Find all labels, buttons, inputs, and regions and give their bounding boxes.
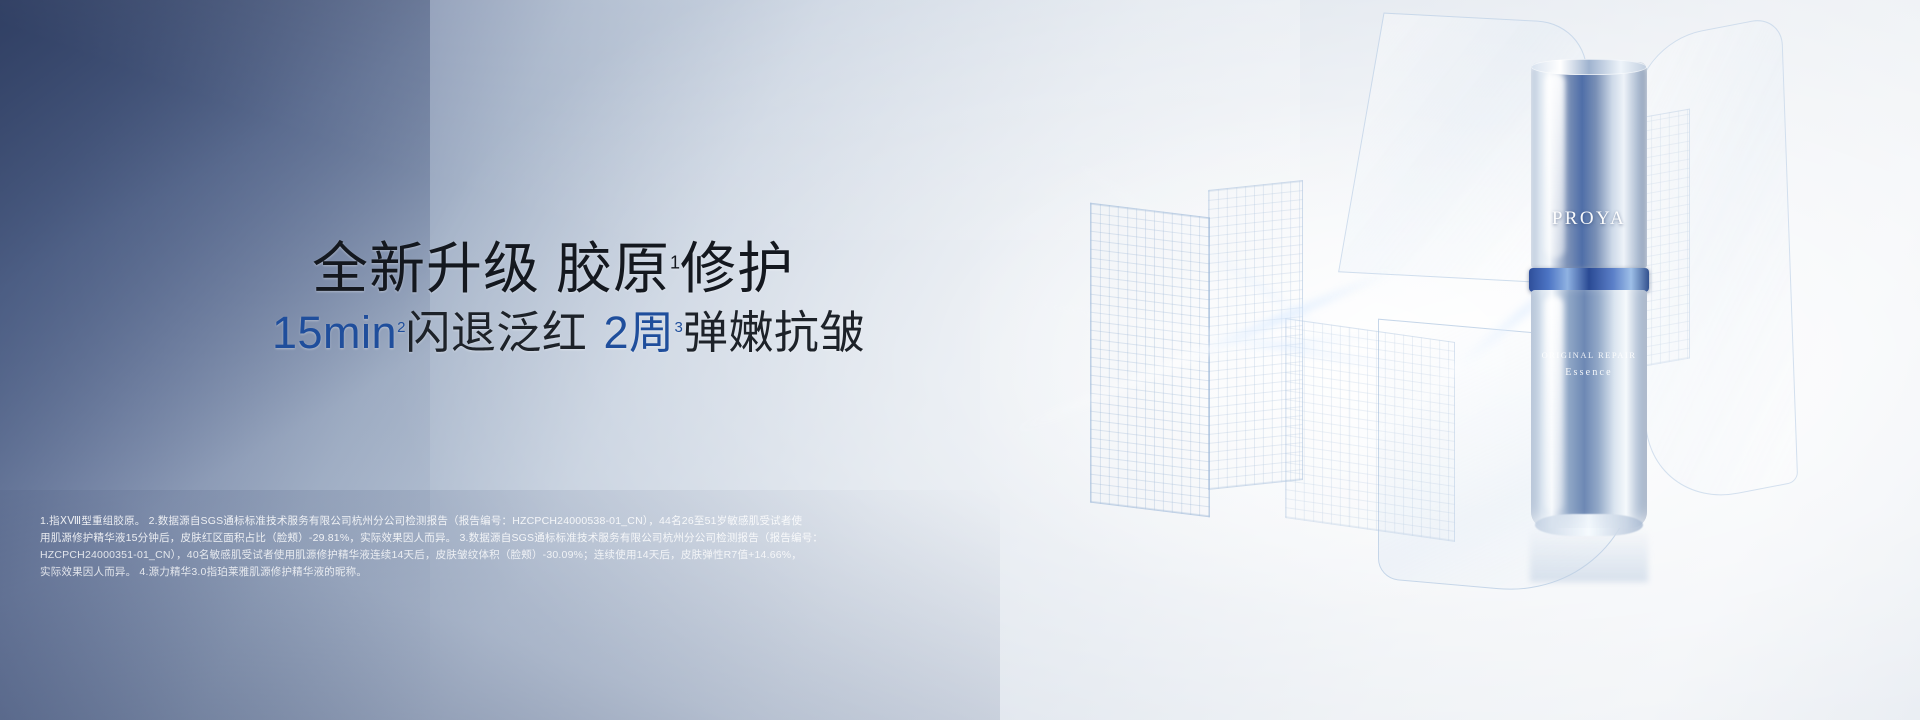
headline-part-2: 胶原 — [556, 237, 670, 300]
claim-2-value: 2周 — [603, 307, 674, 358]
glass-mesh-panel-middle — [1208, 180, 1303, 490]
bottle-body-highlight — [1545, 296, 1563, 512]
light-ray — [1090, 334, 1389, 363]
footnotes-block: 1.指ⅩⅧ型重组胶原。 2.数据源自SGS通标标准技术服务有限公司杭州分公司检测… — [40, 513, 1170, 581]
footnote-line-3: HZCPCH24000351-01_CN），40名敏感肌受试者使用肌源修护精华液… — [40, 547, 1170, 564]
bottle-brand-name: PROYA — [1523, 208, 1655, 230]
promo-banner: PROYA ORIGINAL REPAIR Essence 全新升级胶原1修护 … — [0, 0, 1920, 720]
claim-2-text: 弹嫩抗皱 — [683, 307, 865, 358]
bottle-reflection — [1530, 528, 1648, 582]
glass-ribbon-curve — [1378, 319, 1638, 602]
bottle-cap-highlight — [1545, 72, 1565, 258]
bottle-label-line-2: Essence — [1523, 367, 1655, 378]
footnote-line-1: 1.指ⅩⅧ型重组胶原。 2.数据源自SGS通标标准技术服务有限公司杭州分公司检测… — [40, 513, 1170, 530]
copy-block: 全新升级胶原1修护 15min2闪退泛红2周3弹嫩抗皱 — [0, 0, 1000, 720]
bottle-base — [1535, 514, 1643, 536]
product-bottle: PROYA ORIGINAL REPAIR Essence — [1523, 62, 1655, 532]
bottle-cap-top — [1531, 59, 1647, 75]
light-ray — [1327, 240, 1609, 478]
light-ray — [1059, 150, 1343, 343]
headline-part-3: 修护 — [680, 237, 794, 300]
light-ray — [1009, 266, 1398, 437]
bottle-label-line-1: ORIGINAL REPAIR — [1523, 350, 1655, 360]
glass-mesh-panel-lower — [1285, 318, 1455, 542]
glass-mesh-panel-left — [1090, 203, 1210, 518]
bottle-collar-band — [1529, 268, 1649, 292]
headline-part-1: 全新升级 — [312, 237, 540, 300]
claim-1-value: 15min — [272, 307, 397, 358]
subheadline: 15min2闪退泛红2周3弹嫩抗皱 — [272, 310, 865, 355]
headline: 全新升级胶原1修护 — [312, 241, 794, 297]
glass-ribbon-top — [1338, 13, 1597, 284]
footnote-line-4: 实际效果因人而异。 4.源力精华3.0指珀莱雅肌源修护精华液的昵称。 — [40, 564, 1170, 581]
headline-footnote-marker: 1 — [670, 252, 680, 272]
glass-mesh-panel-right — [1560, 109, 1690, 382]
bottle-body — [1531, 290, 1647, 528]
light-ray — [1030, 300, 1405, 371]
footnote-line-2: 用肌源修护精华液15分钟后，皮肤红区面积占比（脸颊）-29.81%，实际效果因人… — [40, 530, 1170, 547]
glass-ribbon-right — [1632, 15, 1798, 511]
bottle-cap — [1531, 62, 1647, 268]
claim-1-text: 闪退泛红 — [405, 307, 587, 358]
claim-2-footnote-marker: 3 — [674, 319, 682, 336]
